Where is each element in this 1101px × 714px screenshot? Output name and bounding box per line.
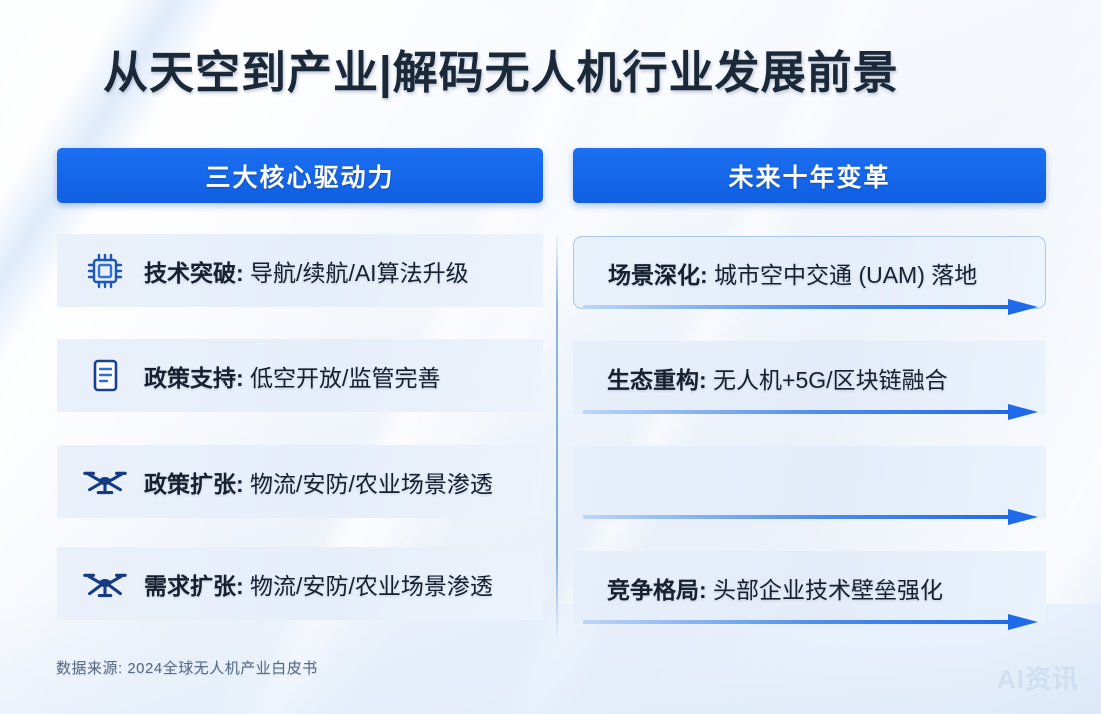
list-item-label: 竞争格局: xyxy=(607,577,707,603)
drone-icon xyxy=(80,559,130,609)
list-item[interactable]: 技术突破: 导航/续航/AI算法升级 xyxy=(57,234,543,307)
list-item-text: 政策扩张: 物流/安防/农业场景渗透 xyxy=(144,465,493,499)
timeline-arrow-icon xyxy=(583,612,1038,632)
chip-icon xyxy=(80,246,130,296)
list-item-text: 场景深化: 城市空中交通 (UAM) 落地 xyxy=(608,256,977,290)
list-item[interactable]: 需求扩张: 物流/安防/农业场景渗透 xyxy=(57,547,543,620)
column-divider xyxy=(556,230,558,640)
timeline-arrow-icon xyxy=(583,402,1038,422)
list-item-text: 技术突破: 导航/续航/AI算法升级 xyxy=(144,254,469,288)
list-item-label: 政策支持: xyxy=(144,365,244,391)
list-item-label: 需求扩张: xyxy=(144,573,244,599)
list-item-label: 技术突破: xyxy=(144,260,244,286)
document-icon xyxy=(80,351,130,401)
page-title: 从天空到产业|解码无人机行业发展前景 xyxy=(103,36,899,101)
column-header-future: 未来十年变革 xyxy=(573,148,1046,203)
list-item[interactable] xyxy=(573,446,1046,519)
list-item[interactable]: 竞争格局: 头部企业技术壁垒强化 xyxy=(573,551,1046,624)
list-item-detail: 物流/安防/农业场景渗透 xyxy=(244,471,493,497)
list-item-detail: 无人机+5G/区块链融合 xyxy=(707,367,948,393)
list-item-label: 场景深化: xyxy=(608,262,708,288)
watermark: AI资讯 xyxy=(997,659,1079,696)
list-item[interactable]: 场景深化: 城市空中交通 (UAM) 落地 xyxy=(573,236,1046,309)
list-item[interactable]: 政策支持: 低空开放/监管完善 xyxy=(57,339,543,412)
slide-canvas: 从天空到产业|解码无人机行业发展前景 三大核心驱动力 未来十年变革 技术突破: … xyxy=(0,0,1101,714)
list-item-detail: 城市空中交通 (UAM) 落地 xyxy=(708,262,978,288)
list-item-detail: 导航/续航/AI算法升级 xyxy=(244,260,469,286)
drone-icon xyxy=(80,457,130,507)
list-item-text: 需求扩张: 物流/安防/农业场景渗透 xyxy=(144,567,493,601)
list-item-detail: 低空开放/监管完善 xyxy=(244,365,441,391)
timeline-arrow-icon xyxy=(583,297,1038,317)
list-item-detail: 物流/安防/农业场景渗透 xyxy=(244,573,493,599)
timeline-arrow-icon xyxy=(583,507,1038,527)
list-item-label: 政策扩张: xyxy=(144,471,244,497)
column-header-future-label: 未来十年变革 xyxy=(728,158,890,194)
list-item[interactable]: 生态重构: 无人机+5G/区块链融合 xyxy=(573,341,1046,414)
list-item-detail: 头部企业技术壁垒强化 xyxy=(707,577,943,603)
data-source-note: 数据来源: 2024全球无人机产业白皮书 xyxy=(56,657,318,678)
column-header-drivers-label: 三大核心驱动力 xyxy=(205,158,394,194)
list-item-text: 政策支持: 低空开放/监管完善 xyxy=(144,359,440,393)
list-item[interactable]: 政策扩张: 物流/安防/农业场景渗透 xyxy=(57,445,543,518)
list-item-text: 竞争格局: 头部企业技术壁垒强化 xyxy=(607,571,943,605)
list-item-label: 生态重构: xyxy=(607,367,707,393)
column-header-drivers: 三大核心驱动力 xyxy=(57,148,543,203)
list-item-text: 生态重构: 无人机+5G/区块链融合 xyxy=(607,361,948,395)
